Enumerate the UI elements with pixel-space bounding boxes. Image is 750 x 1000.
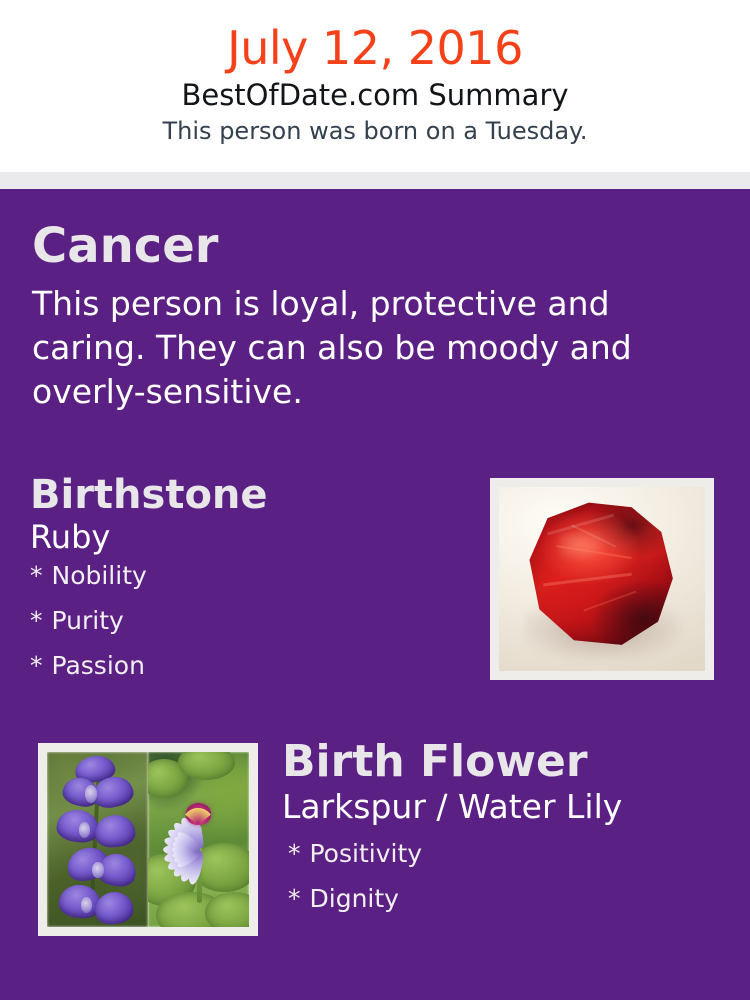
birth-flower-trait-list: *Positivity *Dignity — [282, 825, 722, 931]
birthstone-name: Ruby — [30, 515, 460, 555]
page-title-date: July 12, 2016 — [0, 0, 750, 73]
asterisk-icon: * — [30, 606, 52, 635]
trait-label: Dignity — [310, 884, 399, 913]
list-item: *Purity — [30, 608, 460, 653]
site-summary-label: BestOfDate.com Summary — [0, 73, 750, 112]
list-item: *Nobility — [30, 563, 460, 608]
asterisk-icon: * — [288, 884, 310, 913]
birth-flower-heading: Birth Flower — [282, 740, 722, 784]
trait-label: Nobility — [52, 561, 147, 590]
birth-flower-image-frame — [38, 743, 258, 936]
birthstone-image-frame — [490, 478, 714, 680]
flower-photo-split — [47, 752, 249, 927]
zodiac-sign-title: Cancer — [32, 222, 692, 270]
birthstone-heading: Birthstone — [30, 475, 460, 515]
birthstone-trait-list: *Nobility *Purity *Passion — [30, 555, 460, 698]
header-divider — [0, 172, 750, 189]
list-item: *Passion — [30, 653, 460, 698]
weekday-statement: This person was born on a Tuesday. — [0, 112, 750, 144]
trait-label: Passion — [52, 651, 145, 680]
card-header: July 12, 2016 BestOfDate.com Summary Thi… — [0, 0, 750, 172]
list-item: *Positivity — [288, 841, 722, 886]
birth-flower-name: Larkspur / Water Lily — [282, 784, 722, 825]
birthstone-image — [499, 487, 705, 671]
water-lily-center — [186, 803, 211, 825]
birth-flower-section: Birth Flower Larkspur / Water Lily *Posi… — [282, 740, 722, 931]
ruby-highlight — [559, 532, 608, 563]
ruby-facet — [543, 573, 632, 587]
asterisk-icon: * — [30, 651, 52, 680]
ruby-facet — [584, 591, 637, 612]
asterisk-icon: * — [30, 561, 52, 590]
water-lily-bloom-icon — [156, 777, 241, 851]
larkspur-flower-center — [92, 862, 103, 878]
asterisk-icon: * — [288, 839, 310, 868]
trait-label: Purity — [52, 606, 124, 635]
birthday-summary-card: July 12, 2016 BestOfDate.com Summary Thi… — [0, 0, 750, 1000]
water-lily-photo — [148, 752, 249, 927]
birth-flower-image — [47, 752, 249, 927]
trait-label: Positivity — [310, 839, 423, 868]
zodiac-section: Cancer This person is loyal, protective … — [32, 222, 692, 415]
list-item: *Dignity — [288, 886, 722, 931]
larkspur-photo — [47, 752, 148, 927]
birthstone-section: Birthstone Ruby *Nobility *Purity *Passi… — [30, 475, 460, 698]
zodiac-description: This person is loyal, protective and car… — [32, 270, 642, 415]
